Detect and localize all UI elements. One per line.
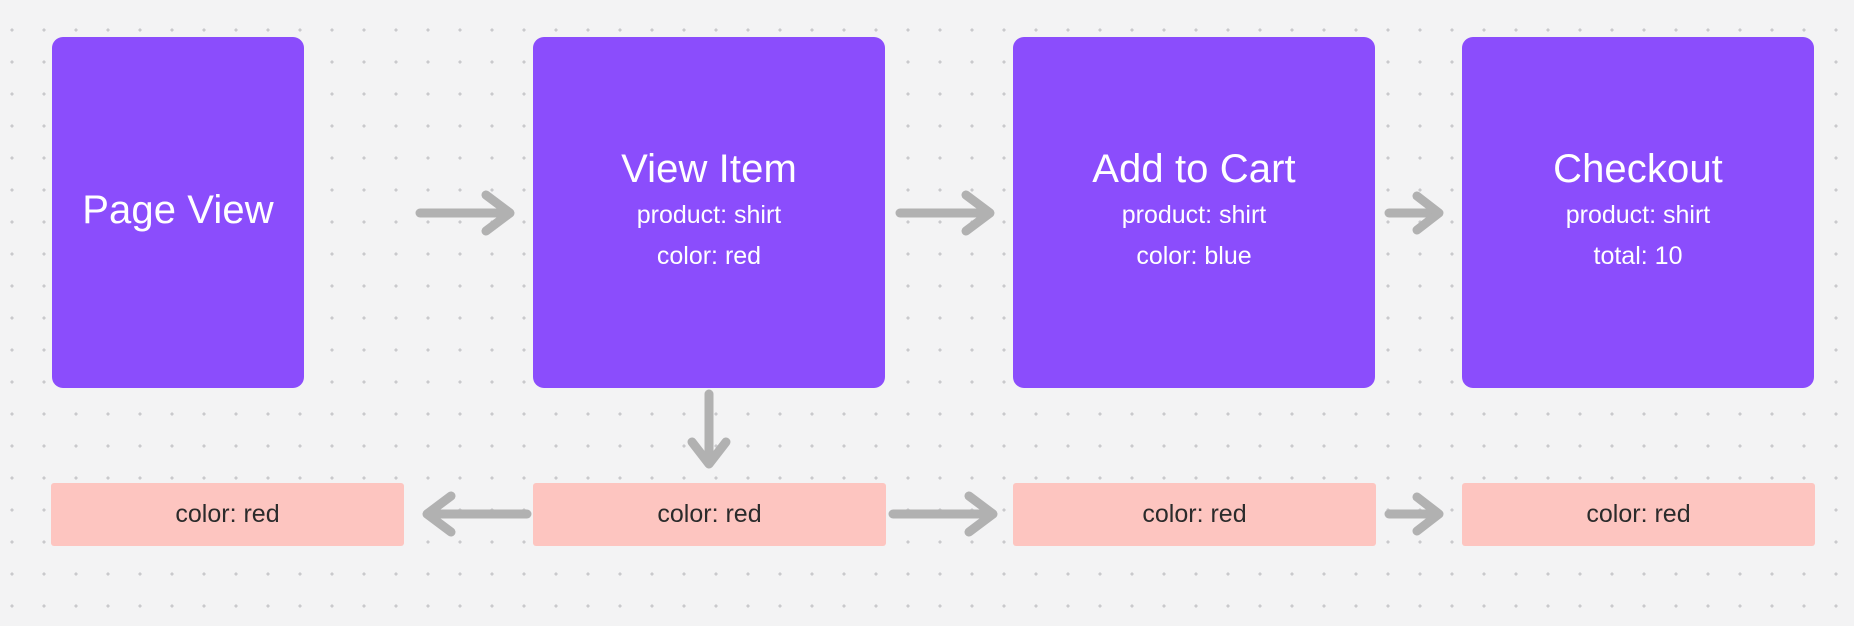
arrow-property-node-2-to-property-node-1 [409,491,529,537]
event-node-view-item[interactable]: View Item product: shirt color: red [533,37,885,388]
event-node-page-view[interactable]: Page View [52,37,304,388]
arrow-property-node-3-to-property-node-4 [1387,491,1457,537]
event-node-property: color: red [657,236,761,277]
event-node-title: View Item [621,148,797,191]
event-node-property: product: shirt [1566,195,1711,236]
event-node-property: product: shirt [1122,195,1267,236]
arrow-view-item-to-property-node-2 [686,392,732,480]
event-node-properties: product: shirt color: red [637,195,782,277]
property-node-2[interactable]: color: red [533,483,886,546]
event-node-property: total: 10 [1594,236,1683,277]
event-node-checkout[interactable]: Checkout product: shirt total: 10 [1462,37,1814,388]
arrow-add-to-cart-to-checkout [1387,190,1457,236]
flow-canvas[interactable]: Page View View Item product: shirt color… [0,0,1854,626]
event-node-title: Add to Cart [1092,148,1295,191]
event-node-title: Checkout [1553,148,1723,191]
arrow-view-item-to-add-to-cart [898,190,1008,236]
event-node-property: product: shirt [637,195,782,236]
property-node-3[interactable]: color: red [1013,483,1376,546]
property-node-4[interactable]: color: red [1462,483,1815,546]
event-node-property: color: blue [1136,236,1251,277]
event-node-add-to-cart[interactable]: Add to Cart product: shirt color: blue [1013,37,1375,388]
event-node-title: Page View [82,189,273,232]
event-node-properties: product: shirt color: blue [1122,195,1267,277]
event-node-properties: product: shirt total: 10 [1566,195,1711,277]
arrow-property-node-2-to-property-node-3 [891,491,1011,537]
arrow-page-view-to-view-item [418,190,528,236]
property-node-1[interactable]: color: red [51,483,404,546]
